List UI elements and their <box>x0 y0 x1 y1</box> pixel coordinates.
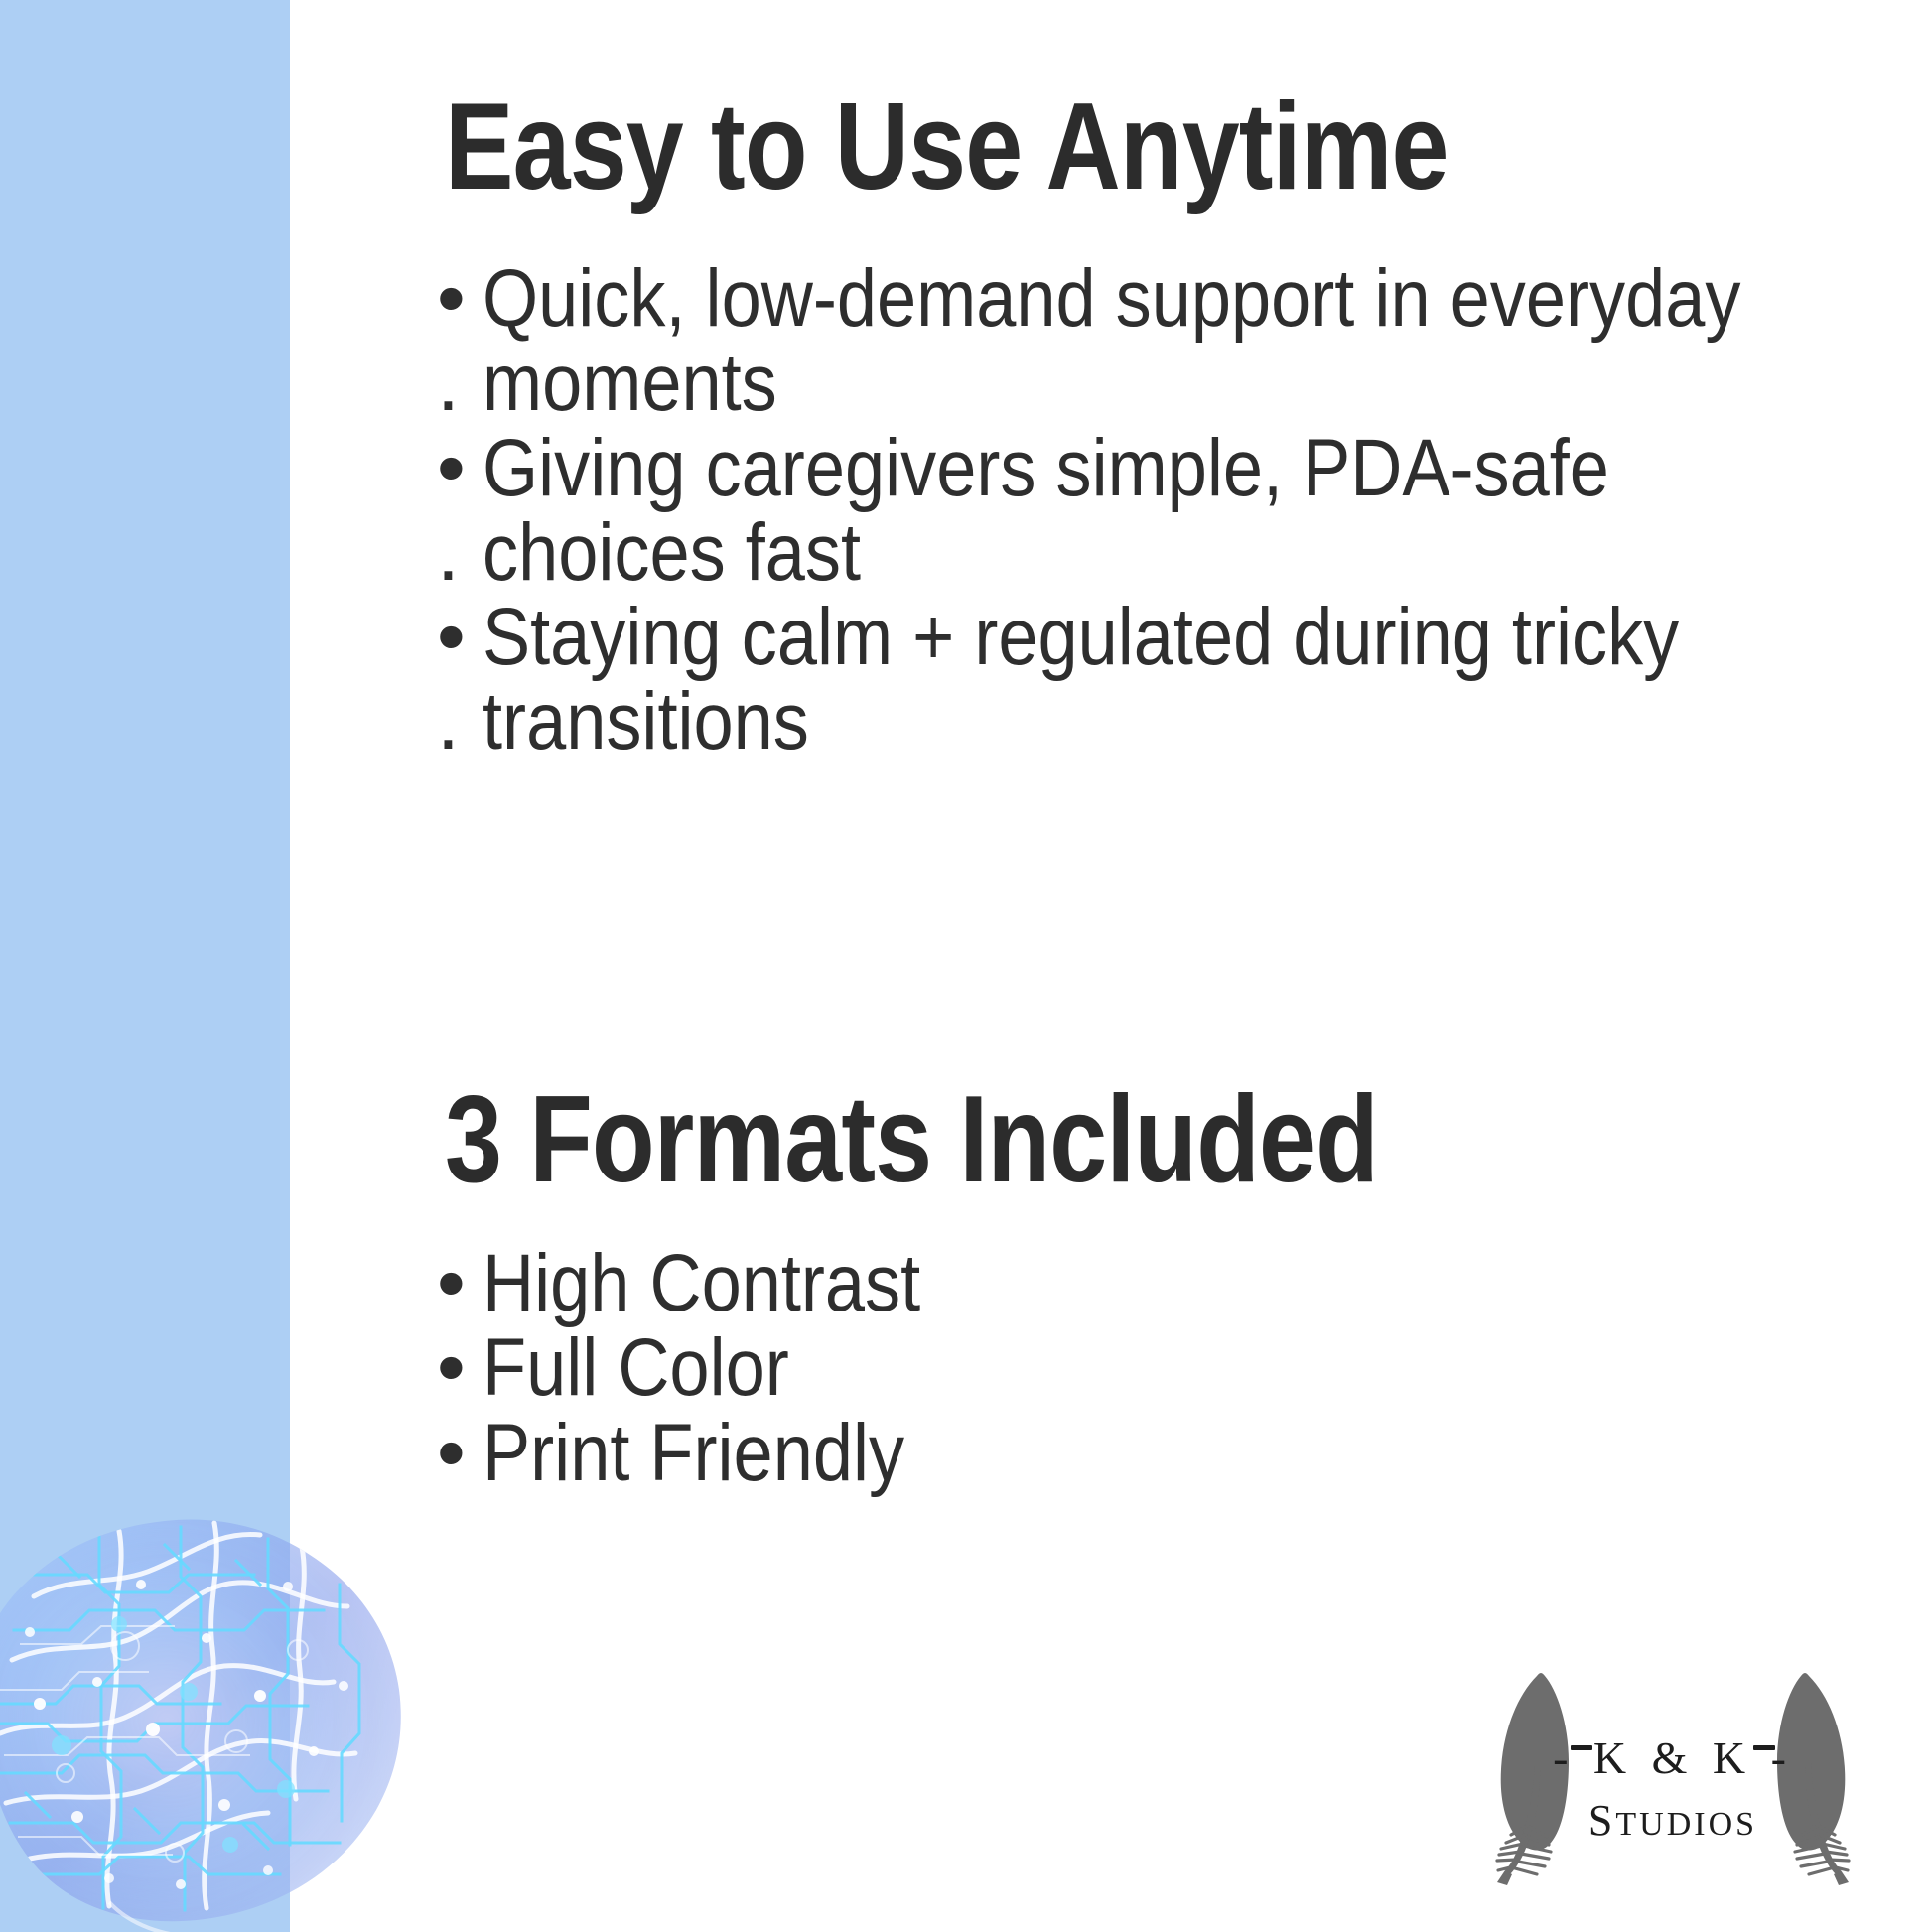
list-item-continuation: . moments <box>437 341 1866 425</box>
list-item-label: transitions <box>483 679 809 763</box>
list-item-label: moments <box>483 341 777 425</box>
bullet-marker-icon: • <box>437 1241 483 1325</box>
list-item-label: Giving caregivers simple, PDA-safe <box>483 426 1609 510</box>
list-item: • High Contrast <box>437 1241 1866 1325</box>
left-accent-band <box>0 0 290 1932</box>
period-marker-icon: . <box>437 510 483 595</box>
list-item: • Staying calm + regulated during tricky <box>437 595 1866 679</box>
brand-logo: - K & K - STUDIOS <box>1459 1640 1886 1898</box>
list-item-label: Print Friendly <box>483 1411 904 1495</box>
bullet-marker-icon: • <box>437 1325 483 1410</box>
bullet-marker-icon: • <box>437 595 483 679</box>
list-item-label: choices fast <box>483 510 861 595</box>
logo-studios: STUDIOS <box>1459 1795 1886 1846</box>
bullet-marker-icon: • <box>437 426 483 510</box>
bullet-marker-icon: • <box>437 256 483 341</box>
slide-canvas: Easy to Use Anytime • Quick, low-demand … <box>0 0 1932 1932</box>
page-title: Easy to Use Anytime <box>445 85 1449 208</box>
list-item: • Quick, low-demand support in everyday <box>437 256 1866 341</box>
formats-list: • High Contrast • Full Color • Print Fri… <box>437 1241 1866 1495</box>
list-item-label: Quick, low-demand support in everyday <box>483 256 1740 341</box>
list-item-label: Staying calm + regulated during tricky <box>483 595 1679 679</box>
list-item: • Print Friendly <box>437 1411 1866 1495</box>
logo-studios-cap: S <box>1588 1796 1615 1845</box>
bullet-marker-icon: • <box>437 1411 483 1495</box>
benefits-list: • Quick, low-demand support in everyday … <box>437 256 1866 764</box>
logo-name: - K & K - <box>1459 1731 1886 1784</box>
logo-studios-rest: TUDIOS <box>1615 1806 1757 1843</box>
list-item: • Full Color <box>437 1325 1866 1410</box>
list-item-label: Full Color <box>483 1325 789 1410</box>
list-item-continuation: . choices fast <box>437 510 1866 595</box>
period-marker-icon: . <box>437 341 483 425</box>
list-item: • Giving caregivers simple, PDA-safe <box>437 426 1866 510</box>
list-item-label: High Contrast <box>483 1241 920 1325</box>
period-marker-icon: . <box>437 679 483 763</box>
formats-heading: 3 Formats Included <box>445 1078 1378 1201</box>
list-item-continuation: . transitions <box>437 679 1866 763</box>
